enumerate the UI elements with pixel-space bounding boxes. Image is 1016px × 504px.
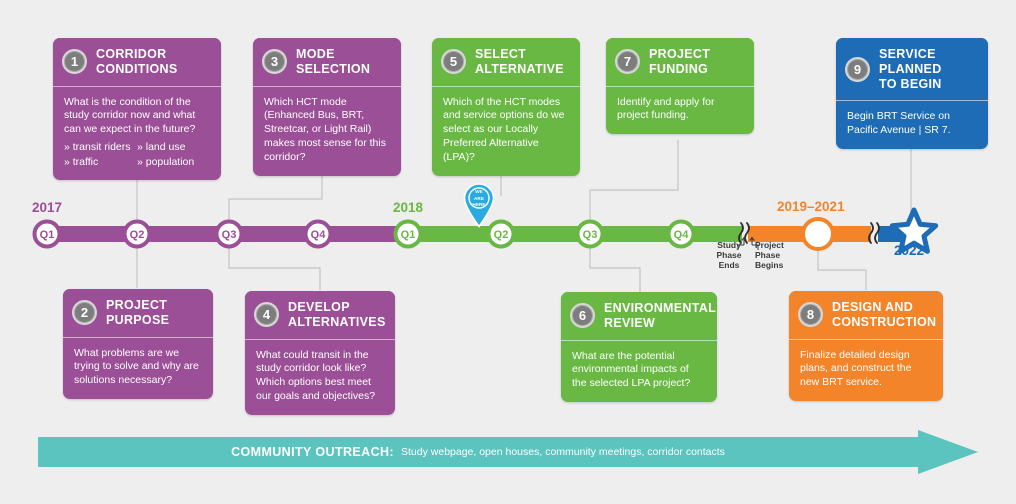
project-phase-line1: Project bbox=[755, 240, 799, 250]
we-are-here-pin[interactable]: WE ARE HERE bbox=[463, 183, 495, 228]
svg-text:Q2: Q2 bbox=[130, 229, 145, 241]
timeline-axis: Q1 Q2 Q3 Q4 Q1 Q2 Q3 Q4 bbox=[0, 0, 1016, 504]
timeline-infographic: 1 CORRIDOR CONDITIONS What is the condit… bbox=[0, 0, 1016, 504]
year-label-2022: 2022 bbox=[894, 243, 924, 258]
study-phase-line1: Study bbox=[709, 240, 749, 250]
pin-text: WE ARE HERE bbox=[463, 189, 495, 209]
svg-text:Q4: Q4 bbox=[311, 229, 327, 241]
year-label-2018: 2018 bbox=[393, 200, 423, 215]
study-phase-ends-label: Study Phase Ends bbox=[709, 240, 749, 270]
pin-line2: ARE bbox=[463, 196, 495, 203]
year-label-2019-2021: 2019–2021 bbox=[777, 199, 845, 214]
year-label-2017: 2017 bbox=[32, 200, 62, 215]
outreach-heading: COMMUNITY OUTREACH: bbox=[231, 445, 394, 459]
timeline-node-project-phase bbox=[803, 219, 833, 249]
outreach-label: COMMUNITY OUTREACH: Study webpage, open … bbox=[38, 430, 918, 474]
svg-text:Q1: Q1 bbox=[401, 229, 416, 241]
study-phase-line2: Phase bbox=[709, 250, 749, 260]
project-phase-begins-label: Project Phase Begins bbox=[755, 240, 799, 270]
outreach-detail: Study webpage, open houses, community me… bbox=[401, 446, 725, 458]
pin-line3: HERE bbox=[463, 202, 495, 209]
svg-text:Q2: Q2 bbox=[494, 229, 509, 241]
svg-text:Q3: Q3 bbox=[583, 229, 598, 241]
svg-text:Q4: Q4 bbox=[674, 229, 690, 241]
project-phase-line3: Begins bbox=[755, 260, 799, 270]
pin-line1: WE bbox=[463, 189, 495, 196]
study-phase-line3: Ends bbox=[709, 260, 749, 270]
svg-text:Q3: Q3 bbox=[222, 229, 237, 241]
community-outreach-banner: COMMUNITY OUTREACH: Study webpage, open … bbox=[38, 430, 978, 474]
project-phase-line2: Phase bbox=[755, 250, 799, 260]
svg-text:Q1: Q1 bbox=[40, 229, 55, 241]
